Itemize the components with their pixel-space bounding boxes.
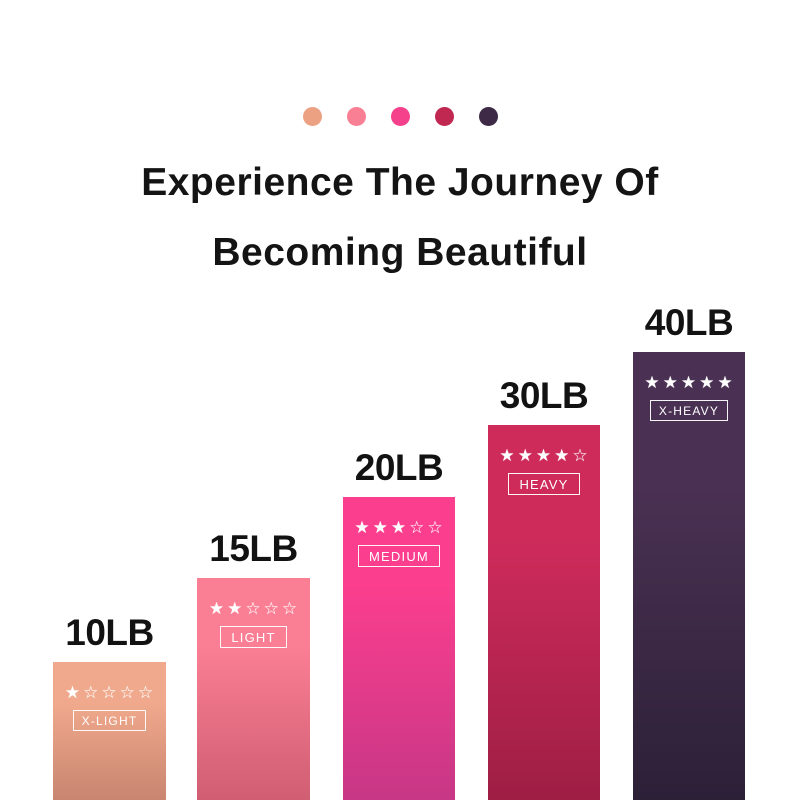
star-empty-icon: ☆ <box>409 519 425 536</box>
star-rating: ★★★☆☆ <box>354 519 443 536</box>
star-rating: ★★★★★ <box>644 374 733 391</box>
bar-rect[interactable]: ★★☆☆☆LIGHT <box>197 578 310 800</box>
category-badge: HEAVY <box>508 473 579 495</box>
star-filled-icon: ★ <box>699 374 715 391</box>
star-empty-icon: ☆ <box>245 600 261 617</box>
star-empty-icon: ☆ <box>282 600 298 617</box>
bar-weight-label: 30LB <box>500 377 588 425</box>
star-rating: ★★☆☆☆ <box>209 600 298 617</box>
star-empty-icon: ☆ <box>264 600 280 617</box>
star-empty-icon: ☆ <box>572 447 588 464</box>
star-filled-icon: ★ <box>209 600 225 617</box>
resistance-band-bar-chart: 10LB★☆☆☆☆X-LIGHT15LB★★☆☆☆LIGHT20LB★★★☆☆M… <box>0 0 800 800</box>
bar-group-x-light[interactable]: 10LB★☆☆☆☆X-LIGHT <box>53 662 166 800</box>
star-empty-icon: ☆ <box>120 684 136 701</box>
star-filled-icon: ★ <box>499 447 515 464</box>
star-filled-icon: ★ <box>644 374 660 391</box>
bar-info: ★★★☆☆MEDIUM <box>343 519 455 567</box>
bar-rect[interactable]: ★★★★★X-HEAVY <box>633 352 745 800</box>
star-filled-icon: ★ <box>65 684 81 701</box>
star-filled-icon: ★ <box>518 447 534 464</box>
category-badge: X-LIGHT <box>73 710 147 731</box>
category-badge: X-HEAVY <box>650 400 728 421</box>
bar-rect[interactable]: ★★★★☆HEAVY <box>488 425 600 800</box>
category-badge: LIGHT <box>220 626 286 648</box>
bar-info: ★☆☆☆☆X-LIGHT <box>53 684 166 731</box>
bar-weight-label: 15LB <box>209 530 297 578</box>
bar-group-heavy[interactable]: 30LB★★★★☆HEAVY <box>488 425 600 800</box>
star-filled-icon: ★ <box>227 600 243 617</box>
bar-group-light[interactable]: 15LB★★☆☆☆LIGHT <box>197 578 310 800</box>
star-rating: ★☆☆☆☆ <box>65 684 154 701</box>
star-empty-icon: ☆ <box>427 519 443 536</box>
bar-group-medium[interactable]: 20LB★★★☆☆MEDIUM <box>343 497 455 800</box>
star-empty-icon: ☆ <box>138 684 154 701</box>
bar-weight-label: 40LB <box>645 304 733 352</box>
category-badge: MEDIUM <box>358 545 440 567</box>
star-filled-icon: ★ <box>391 519 407 536</box>
star-empty-icon: ☆ <box>83 684 99 701</box>
star-filled-icon: ★ <box>554 447 570 464</box>
bar-weight-label: 20LB <box>355 449 443 497</box>
star-filled-icon: ★ <box>536 447 552 464</box>
bar-info: ★★★★★X-HEAVY <box>633 374 745 421</box>
star-empty-icon: ☆ <box>101 684 117 701</box>
star-rating: ★★★★☆ <box>499 447 588 464</box>
bar-group-x-heavy[interactable]: 40LB★★★★★X-HEAVY <box>633 352 745 800</box>
star-filled-icon: ★ <box>681 374 697 391</box>
bar-info: ★★☆☆☆LIGHT <box>197 600 310 648</box>
star-filled-icon: ★ <box>354 519 370 536</box>
star-filled-icon: ★ <box>717 374 733 391</box>
star-filled-icon: ★ <box>373 519 389 536</box>
star-filled-icon: ★ <box>663 374 679 391</box>
bar-weight-label: 10LB <box>65 614 153 662</box>
bar-rect[interactable]: ★☆☆☆☆X-LIGHT <box>53 662 166 800</box>
bar-info: ★★★★☆HEAVY <box>488 447 600 495</box>
bar-rect[interactable]: ★★★☆☆MEDIUM <box>343 497 455 800</box>
